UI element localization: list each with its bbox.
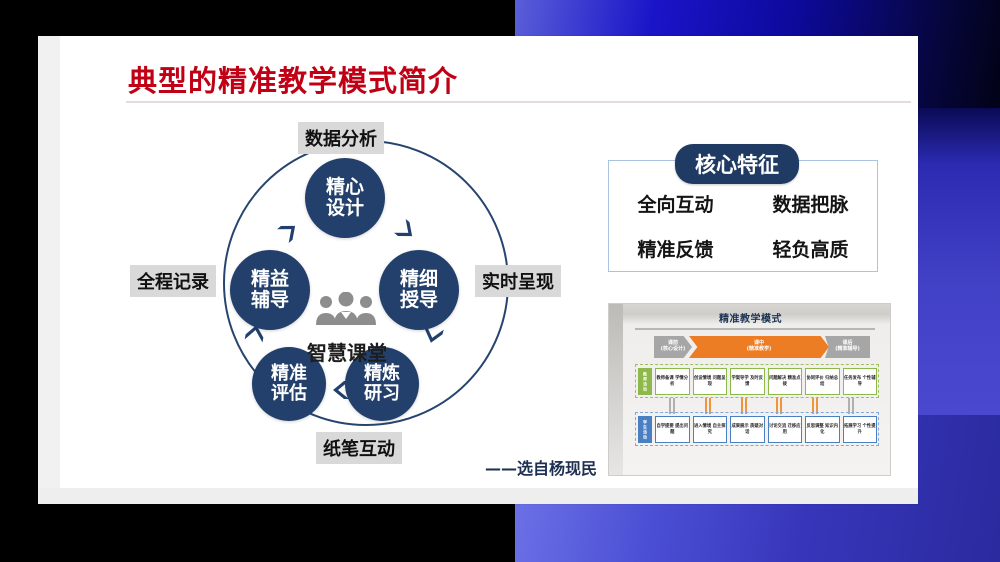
cycle-node-line2: 评估 — [271, 384, 307, 404]
teacher-row-tag: 教师活动 — [638, 368, 652, 395]
cycle-node-design[interactable]: 精心 设计 — [305, 158, 385, 238]
core-feature-item: 精准反馈 — [637, 235, 713, 262]
student-cell: 讨论交流 迁移应用 — [768, 416, 803, 443]
teacher-cell: 协同评价 归纳总结 — [805, 368, 840, 395]
cycle-node-line1: 精炼 — [364, 364, 400, 384]
chip-pen-paper: 纸笔互动 — [316, 432, 402, 464]
phase-band-sublabel: (精准教学) — [747, 347, 772, 353]
teacher-cell: 学案导学 及时反馈 — [730, 368, 765, 395]
teacher-row-cells: 教师备课 学情分析 创设情境 问题呈现 学案导学 及时反馈 问题解决 精准点拨 … — [655, 368, 877, 395]
student-row-cells: 自学提要 提出问题 进入情境 自主探究 成果展示 质疑对话 讨论交流 迁移应用 … — [655, 416, 877, 443]
cycle-node-line1: 精益 — [251, 269, 289, 290]
cycle-center-label: 智慧课堂 — [282, 337, 412, 366]
student-cell: 进入情境 自主探究 — [693, 416, 728, 443]
cycle-node-tutoring[interactable]: 精益 辅导 — [230, 250, 310, 330]
student-cell: 成果展示 质疑对话 — [730, 416, 765, 443]
teacher-cell: 教师备课 学情分析 — [655, 368, 690, 395]
chip-realtime: 实时呈现 — [475, 265, 561, 297]
core-feature-item: 全向互动 — [637, 190, 713, 217]
picture-left-strip — [609, 304, 623, 476]
cycle-node-line2: 研习 — [364, 384, 400, 404]
credit-attribution: ——选自杨现民 — [485, 455, 597, 479]
core-features-badge: 核心特征 — [675, 144, 799, 184]
page-title: 典型的精准教学模式简介 — [128, 58, 458, 100]
student-cell: 自学提要 提出问题 — [655, 416, 690, 443]
model-picture-title: 精准教学模式 — [609, 310, 891, 325]
title-divider — [126, 101, 911, 103]
cycle-node-line1: 精心 — [326, 177, 364, 198]
slide-card: 典型的精准教学模式简介 — [38, 36, 918, 504]
teacher-activity-row: 教师活动 教师备课 学情分析 创设情境 问题呈现 学案导学 及时反馈 问题解决 … — [635, 364, 879, 398]
core-features-panel: 核心特征 全向互动 数据把脉 精准反馈 轻负高质 — [608, 144, 880, 274]
phase-band-sublabel: (精准辅导) — [835, 347, 860, 353]
core-feature-item: 轻负高质 — [772, 235, 848, 262]
slide-left-edge — [38, 36, 60, 504]
core-feature-item: 数据把脉 — [772, 190, 848, 217]
cycle-node-line2: 辅导 — [251, 290, 289, 311]
phase-band-after: 课后 (精准辅导) — [825, 336, 870, 358]
slide-screenshot: 典型的精准教学模式简介 — [0, 0, 1000, 562]
phase-band-during: 课中 (精准教学) — [689, 336, 829, 358]
slide-bottom-edge — [38, 488, 918, 504]
cycle-node-line1: 精细 — [400, 269, 438, 290]
student-row-tag: 学生活动 — [638, 416, 652, 443]
chip-full-record: 全程记录 — [130, 265, 216, 297]
cycle-diagram: 精心 设计 精细 授导 精炼 研习 精准 评估 精益 辅导 — [130, 122, 640, 482]
cycle-node-teaching[interactable]: 精细 授导 — [379, 250, 459, 330]
model-picture: 精准教学模式 课前 (核心设计) 课中 (精准教学) 课后 — [608, 303, 891, 476]
cycle-node-line2: 设计 — [326, 198, 364, 219]
slide-content: 典型的精准教学模式简介 — [60, 36, 896, 488]
background-gradient-right — [915, 108, 1000, 418]
teacher-cell: 创设情境 问题呈现 — [693, 368, 728, 395]
phase-band-sublabel: (核心设计) — [661, 347, 686, 353]
student-activity-row: 学生活动 自学提要 提出问题 进入情境 自主探究 成果展示 质疑对话 讨论交流 … — [635, 412, 879, 446]
teacher-cell: 问题解决 精准点拨 — [768, 368, 803, 395]
model-picture-divider — [635, 328, 875, 330]
phase-band-before: 课前 (核心设计) — [654, 336, 692, 358]
cycle-node-line1: 精准 — [271, 364, 307, 384]
student-cell: 拓展学习 个性提升 — [843, 416, 878, 443]
teacher-cell: 任务发布 个性辅导 — [843, 368, 878, 395]
core-features-list: 全向互动 数据把脉 精准反馈 轻负高质 — [608, 190, 878, 262]
student-cell: 反思调整 知识内化 — [805, 416, 840, 443]
three-people-icon — [315, 292, 377, 326]
chip-data-analysis: 数据分析 — [298, 122, 384, 154]
cycle-node-line2: 授导 — [400, 290, 438, 311]
